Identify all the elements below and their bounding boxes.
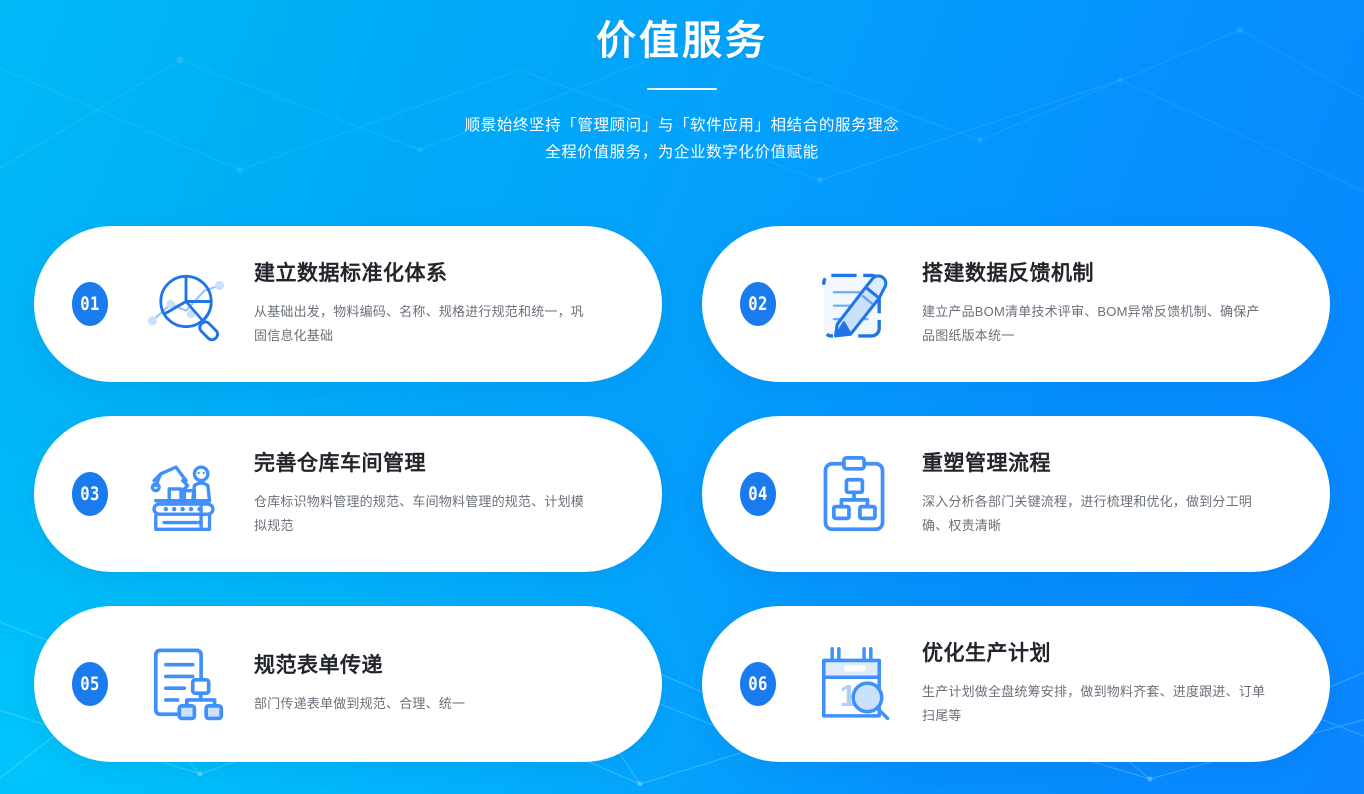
card-text-block: 建立数据标准化体系 从基础出发，物料编码、名称、规格进行规范和统一，巩固信息化基… bbox=[254, 260, 632, 348]
calendar-magnifier-icon: 11 bbox=[802, 636, 906, 732]
page-header: 价值服务 顺景始终坚持「管理顾问」与「软件应用」相结合的服务理念 全程价值服务，… bbox=[0, 0, 1364, 166]
service-card-04[interactable]: 04 重塑管理流程 深入分析各部门关键流程，进行梳理和优化，做到分工明确、权责清… bbox=[702, 416, 1330, 572]
page-subtitle: 顺景始终坚持「管理顾问」与「软件应用」相结合的服务理念 全程价值服务，为企业数字… bbox=[0, 112, 1364, 166]
card-title: 搭建数据反馈机制 bbox=[922, 260, 1300, 287]
value-service-page: 价值服务 顺景始终坚持「管理顾问」与「软件应用」相结合的服务理念 全程价值服务，… bbox=[0, 0, 1364, 794]
subtitle-line-2: 全程价值服务，为企业数字化价值赋能 bbox=[0, 139, 1364, 166]
factory-conveyor-worker-icon bbox=[134, 446, 238, 542]
service-card-grid: 01 bbox=[34, 226, 1330, 762]
card-description: 从基础出发，物料编码、名称、规格进行规范和统一，巩固信息化基础 bbox=[254, 300, 589, 348]
card-number-badge: 05 bbox=[72, 662, 108, 706]
card-text-block: 优化生产计划 生产计划做全盘统筹安排，做到物料齐套、进度跟进、订单扫尾等 bbox=[922, 640, 1300, 728]
card-title: 优化生产计划 bbox=[922, 640, 1300, 667]
card-text-block: 完善仓库车间管理 仓库标识物料管理的规范、车间物料管理的规范、计划模拟规范 bbox=[254, 450, 632, 538]
card-number-badge: 02 bbox=[740, 282, 776, 326]
card-title: 重塑管理流程 bbox=[922, 450, 1300, 477]
card-title: 规范表单传递 bbox=[254, 652, 632, 679]
card-title: 建立数据标准化体系 bbox=[254, 260, 632, 287]
service-card-02[interactable]: 02 搭建数据 bbox=[702, 226, 1330, 382]
clipboard-orgchart-icon bbox=[802, 446, 906, 542]
card-description: 建立产品BOM清单技术评审、BOM异常反馈机制、确保产品图纸版本统一 bbox=[922, 300, 1272, 348]
service-card-01[interactable]: 01 bbox=[34, 226, 662, 382]
card-description: 生产计划做全盘统筹安排，做到物料齐套、进度跟进、订单扫尾等 bbox=[922, 680, 1272, 728]
service-card-05[interactable]: 05 bbox=[34, 606, 662, 762]
title-divider bbox=[647, 88, 717, 90]
service-card-06[interactable]: 06 11 优化 bbox=[702, 606, 1330, 762]
card-text-block: 规范表单传递 部门传递表单做到规范、合理、统一 bbox=[254, 652, 632, 716]
card-number-badge: 06 bbox=[740, 662, 776, 706]
card-number-badge: 03 bbox=[72, 472, 108, 516]
card-text-block: 搭建数据反馈机制 建立产品BOM清单技术评审、BOM异常反馈机制、确保产品图纸版… bbox=[922, 260, 1300, 348]
service-card-03[interactable]: 03 bbox=[34, 416, 662, 572]
document-flow-icon bbox=[134, 636, 238, 732]
card-number-badge: 01 bbox=[72, 282, 108, 326]
notepad-pencil-icon bbox=[802, 256, 906, 352]
pie-chart-magnifier-icon bbox=[134, 256, 238, 352]
card-description: 深入分析各部门关键流程，进行梳理和优化，做到分工明确、权责清晰 bbox=[922, 490, 1272, 538]
card-description: 仓库标识物料管理的规范、车间物料管理的规范、计划模拟规范 bbox=[254, 490, 589, 538]
card-description: 部门传递表单做到规范、合理、统一 bbox=[254, 692, 589, 716]
page-title: 价值服务 bbox=[0, 14, 1364, 68]
card-number-badge: 04 bbox=[740, 472, 776, 516]
card-title: 完善仓库车间管理 bbox=[254, 450, 632, 477]
subtitle-line-1: 顺景始终坚持「管理顾问」与「软件应用」相结合的服务理念 bbox=[0, 112, 1364, 139]
card-text-block: 重塑管理流程 深入分析各部门关键流程，进行梳理和优化，做到分工明确、权责清晰 bbox=[922, 450, 1300, 538]
